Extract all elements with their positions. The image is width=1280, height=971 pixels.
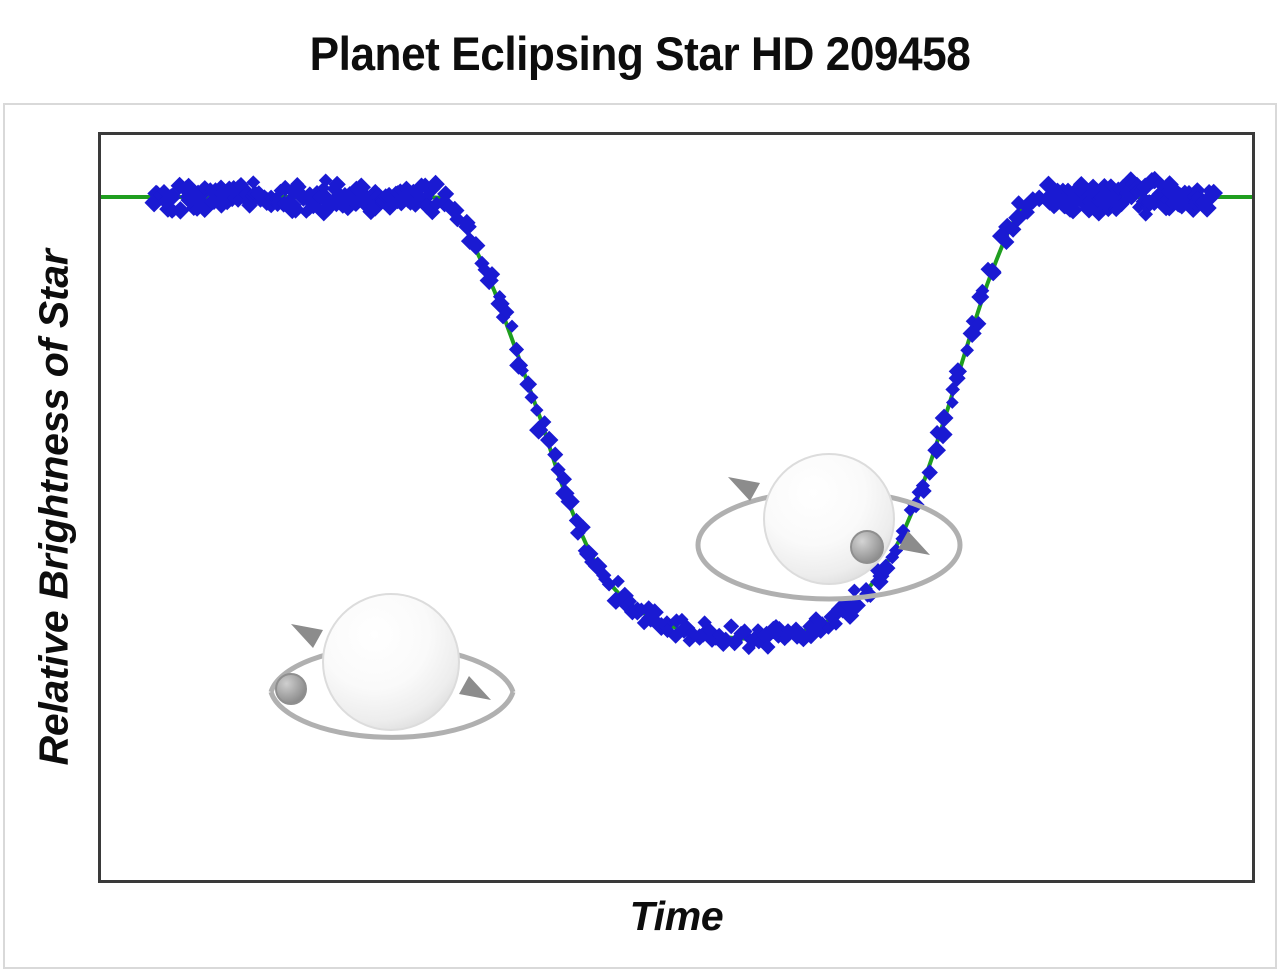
figure-root: Planet Eclipsing Star HD 209458 Relative… — [0, 0, 1280, 971]
data-point-marker — [935, 409, 954, 428]
y-axis-label: Relative Brightness of Star — [31, 250, 78, 766]
y-axis-label-container: Relative Brightness of Star — [18, 132, 90, 883]
in-transit-diagram — [684, 437, 974, 607]
data-point-marker — [530, 403, 543, 416]
out-of-transit-diagram — [241, 572, 541, 752]
planet-sphere — [851, 531, 883, 563]
light-curve-plot — [101, 135, 1252, 880]
planet-sphere — [276, 674, 306, 704]
star-sphere — [323, 594, 459, 730]
orbit-arrow-left-icon — [291, 624, 323, 648]
data-point-marker — [509, 342, 524, 357]
page-title: Planet Eclipsing Star HD 209458 — [38, 26, 1241, 81]
star-planet-orbit-illustration — [241, 572, 541, 752]
star-planet-transit-illustration — [684, 437, 974, 607]
orbit-arrow-right-icon — [898, 531, 930, 555]
star-sphere — [764, 454, 894, 584]
orbit-arrow-left-icon — [728, 477, 760, 501]
plot-area — [98, 132, 1255, 883]
data-point-marker — [519, 375, 537, 393]
x-axis-label: Time — [98, 893, 1255, 940]
orbit-arrow-right-icon — [459, 676, 491, 700]
